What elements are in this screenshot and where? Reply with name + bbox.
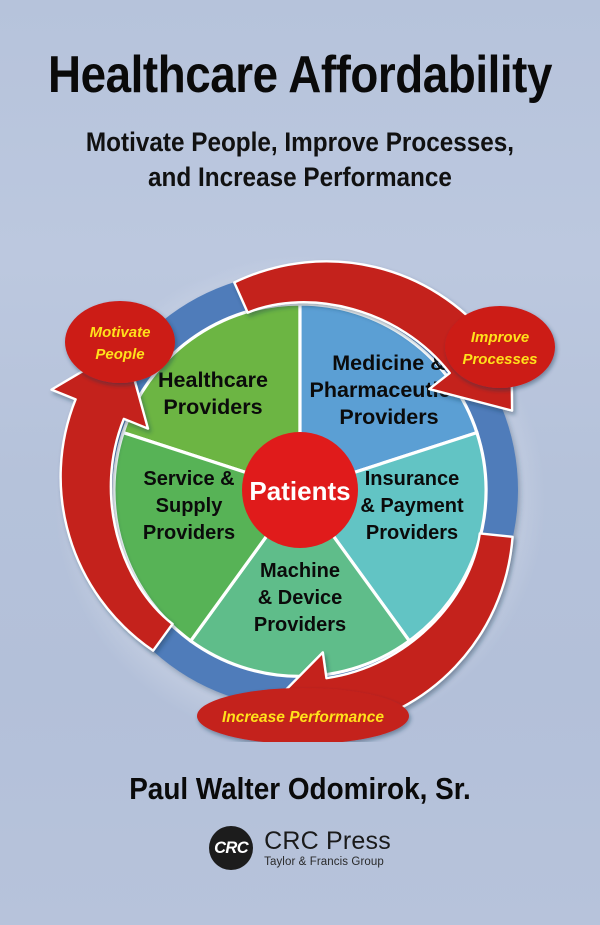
center-node-patients[interactable]: Patients [242,432,358,548]
cycle-diagram: Healthcare Providers Medicine & Pharmace… [0,222,600,742]
badge-improve-processes-line-1: Improve [471,329,529,346]
segment-label-service-line-1: Service & [143,468,234,490]
badge-motivate-people-line-1: Motivate [90,324,151,341]
crc-mark-icon: CRC [209,826,253,870]
segment-label-healthcare-providers-line-1: Healthcare [158,368,268,392]
badge-increase-performance-label: Increase Performance [222,709,384,726]
author-name: Paul Walter Odomirok, Sr. [30,771,570,807]
segment-label-service-line-3: Providers [143,522,235,544]
book-subtitle-line-1: Motivate People, Improve Processes, [30,125,570,160]
title-block: Healthcare Affordability Motivate People… [0,48,600,195]
crc-mark-text: CRC [214,839,248,858]
publisher-name: CRC Press [264,828,391,855]
center-node-label: Patients [249,476,350,506]
segment-label-service-line-2: Supply [156,495,224,517]
badge-motivate-people-line-2: People [95,346,144,363]
segment-label-machine-line-1: Machine [260,560,340,582]
publisher-text: CRC Press Taylor & Francis Group [264,828,391,869]
segment-label-insurance-line-1: Insurance [365,468,459,490]
publisher-tagline: Taylor & Francis Group [264,856,391,868]
book-cover: Healthcare Affordability Motivate People… [0,0,600,925]
segment-label-machine-line-3: Providers [254,614,346,636]
segment-label-insurance-line-3: Providers [366,522,458,544]
segment-label-healthcare-providers-line-2: Providers [163,395,262,419]
book-title: Healthcare Affordability [36,48,564,103]
badge-increase-performance[interactable]: Increase Performance [197,688,409,742]
book-subtitle: Motivate People, Improve Processes, and … [30,125,570,195]
segment-label-machine-line-2: & Device [258,587,343,609]
badge-improve-processes[interactable]: Improve Processes [445,306,555,388]
publisher-logo: CRC CRC Press Taylor & Francis Group [0,826,600,870]
segment-label-medicine-line-1: Medicine & [332,351,446,375]
segment-label-insurance-line-2: & Payment [360,495,464,517]
segment-label-medicine-line-3: Providers [339,405,438,429]
book-subtitle-line-2: and Increase Performance [30,160,570,195]
badge-motivate-people[interactable]: Motivate People [65,301,175,383]
badge-improve-processes-line-2: Processes [462,351,537,368]
